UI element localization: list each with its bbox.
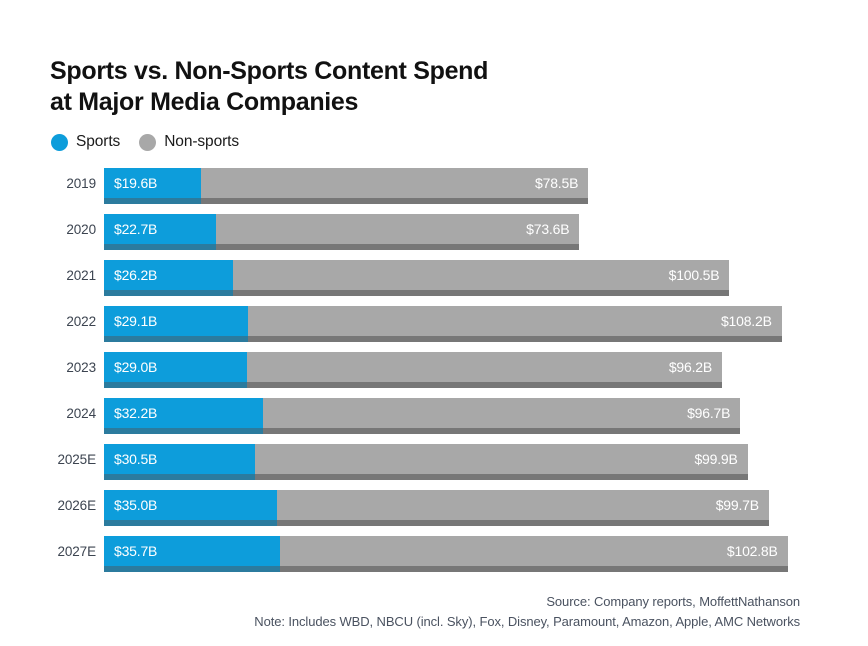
bar-value-label: $73.6B	[526, 214, 569, 244]
bar-shadow	[263, 428, 740, 434]
bar-value-label: $102.8B	[727, 536, 778, 566]
bar-value-label: $26.2B	[114, 260, 157, 290]
bar-shadow	[233, 290, 729, 296]
bar-segment-sports[interactable]: $22.7B	[104, 214, 216, 244]
bar-segment-sports[interactable]: $30.5B	[104, 444, 255, 474]
chart-row: 2026E$35.0B$99.7B	[0, 490, 868, 536]
bar-shadow	[277, 520, 769, 526]
bar-value-label: $30.5B	[114, 444, 157, 474]
chart-row: 2019$19.6B$78.5B	[0, 168, 868, 214]
stacked-bar: $29.0B$96.2B	[104, 352, 722, 388]
chart-row: 2027E$35.7B$102.8B	[0, 536, 868, 582]
bar-value-label: $96.7B	[687, 398, 730, 428]
bar-chart-plot: 2019$19.6B$78.5B2020$22.7B$73.6B2021$26.…	[0, 168, 868, 582]
axis-tick-label-2019: 2019	[6, 176, 96, 191]
bar-shadow	[248, 336, 782, 342]
bar-value-label: $99.9B	[694, 444, 737, 474]
stacked-bar: $30.5B$99.9B	[104, 444, 748, 480]
bar-shadow	[201, 198, 588, 204]
bar-segment-sports[interactable]: $29.1B	[104, 306, 248, 336]
legend-swatch-sports-icon	[51, 134, 68, 151]
legend-label-sports: Sports	[76, 133, 120, 151]
bar-value-label: $29.1B	[114, 306, 157, 336]
bar-shadow	[104, 520, 277, 526]
bar-segment-sports[interactable]: $35.0B	[104, 490, 277, 520]
axis-tick-label-2026E: 2026E	[6, 498, 96, 513]
bar-shadow	[104, 474, 255, 480]
bar-shadow	[255, 474, 748, 480]
chart-footer: Source: Company reports, MoffettNathanso…	[254, 592, 800, 632]
bar-value-label: $32.2B	[114, 398, 157, 428]
bar-segment-non-sports[interactable]: $102.8B	[280, 536, 787, 566]
bar-segment-sports[interactable]: $35.7B	[104, 536, 280, 566]
bar-shadow	[104, 336, 248, 342]
bar-value-label: $22.7B	[114, 214, 157, 244]
legend-swatch-non-sports-icon	[139, 134, 156, 151]
bar-value-label: $108.2B	[721, 306, 772, 336]
bar-segment-non-sports[interactable]: $78.5B	[201, 168, 588, 198]
page-title: Sports vs. Non-Sports Content Spend at M…	[50, 56, 750, 117]
bar-segment-sports[interactable]: $29.0B	[104, 352, 247, 382]
legend-item-non-sports[interactable]: Non-sports	[139, 133, 239, 151]
axis-tick-label-2027E: 2027E	[6, 544, 96, 559]
bar-shadow	[104, 198, 201, 204]
bar-shadow	[216, 244, 579, 250]
bar-segment-non-sports[interactable]: $96.7B	[263, 398, 740, 428]
chart-row: 2021$26.2B$100.5B	[0, 260, 868, 306]
stacked-bar: $35.7B$102.8B	[104, 536, 788, 572]
stacked-bar: $19.6B$78.5B	[104, 168, 588, 204]
stacked-bar: $35.0B$99.7B	[104, 490, 769, 526]
bar-segment-non-sports[interactable]: $96.2B	[247, 352, 722, 382]
stacked-bar: $22.7B$73.6B	[104, 214, 579, 250]
axis-tick-label-2023: 2023	[6, 360, 96, 375]
chart-row: 2025E$30.5B$99.9B	[0, 444, 868, 490]
footer-note: Note: Includes WBD, NBCU (incl. Sky), Fo…	[254, 612, 800, 632]
stacked-bar: $29.1B$108.2B	[104, 306, 782, 342]
bar-segment-non-sports[interactable]: $99.7B	[277, 490, 769, 520]
bar-value-label: $96.2B	[669, 352, 712, 382]
title-block: Sports vs. Non-Sports Content Spend at M…	[50, 56, 750, 117]
bar-value-label: $35.7B	[114, 536, 157, 566]
bar-shadow	[247, 382, 722, 388]
axis-tick-label-2025E: 2025E	[6, 452, 96, 467]
bar-value-label: $99.7B	[716, 490, 759, 520]
bar-segment-non-sports[interactable]: $73.6B	[216, 214, 579, 244]
bar-segment-sports[interactable]: $32.2B	[104, 398, 263, 428]
bar-shadow	[280, 566, 787, 572]
legend-label-non-sports: Non-sports	[164, 133, 239, 151]
chart-container: Sports vs. Non-Sports Content Spend at M…	[0, 0, 868, 646]
axis-tick-label-2022: 2022	[6, 314, 96, 329]
chart-row: 2020$22.7B$73.6B	[0, 214, 868, 260]
bar-value-label: $19.6B	[114, 168, 157, 198]
bar-segment-sports[interactable]: $19.6B	[104, 168, 201, 198]
axis-tick-label-2024: 2024	[6, 406, 96, 421]
axis-tick-label-2021: 2021	[6, 268, 96, 283]
legend-item-sports[interactable]: Sports	[51, 133, 120, 151]
chart-row: 2022$29.1B$108.2B	[0, 306, 868, 352]
stacked-bar: $26.2B$100.5B	[104, 260, 729, 296]
bar-value-label: $78.5B	[535, 168, 578, 198]
footer-source: Source: Company reports, MoffettNathanso…	[254, 592, 800, 612]
bar-shadow	[104, 244, 216, 250]
bar-shadow	[104, 566, 280, 572]
chart-row: 2024$32.2B$96.7B	[0, 398, 868, 444]
chart-legend: Sports Non-sports	[51, 133, 239, 151]
bar-value-label: $29.0B	[114, 352, 157, 382]
stacked-bar: $32.2B$96.7B	[104, 398, 740, 434]
bar-segment-non-sports[interactable]: $99.9B	[255, 444, 748, 474]
chart-row: 2023$29.0B$96.2B	[0, 352, 868, 398]
bar-segment-non-sports[interactable]: $100.5B	[233, 260, 729, 290]
bar-segment-sports[interactable]: $26.2B	[104, 260, 233, 290]
bar-value-label: $35.0B	[114, 490, 157, 520]
bar-shadow	[104, 290, 233, 296]
axis-tick-label-2020: 2020	[6, 222, 96, 237]
bar-shadow	[104, 382, 247, 388]
bar-segment-non-sports[interactable]: $108.2B	[248, 306, 782, 336]
bar-shadow	[104, 428, 263, 434]
bar-value-label: $100.5B	[669, 260, 720, 290]
